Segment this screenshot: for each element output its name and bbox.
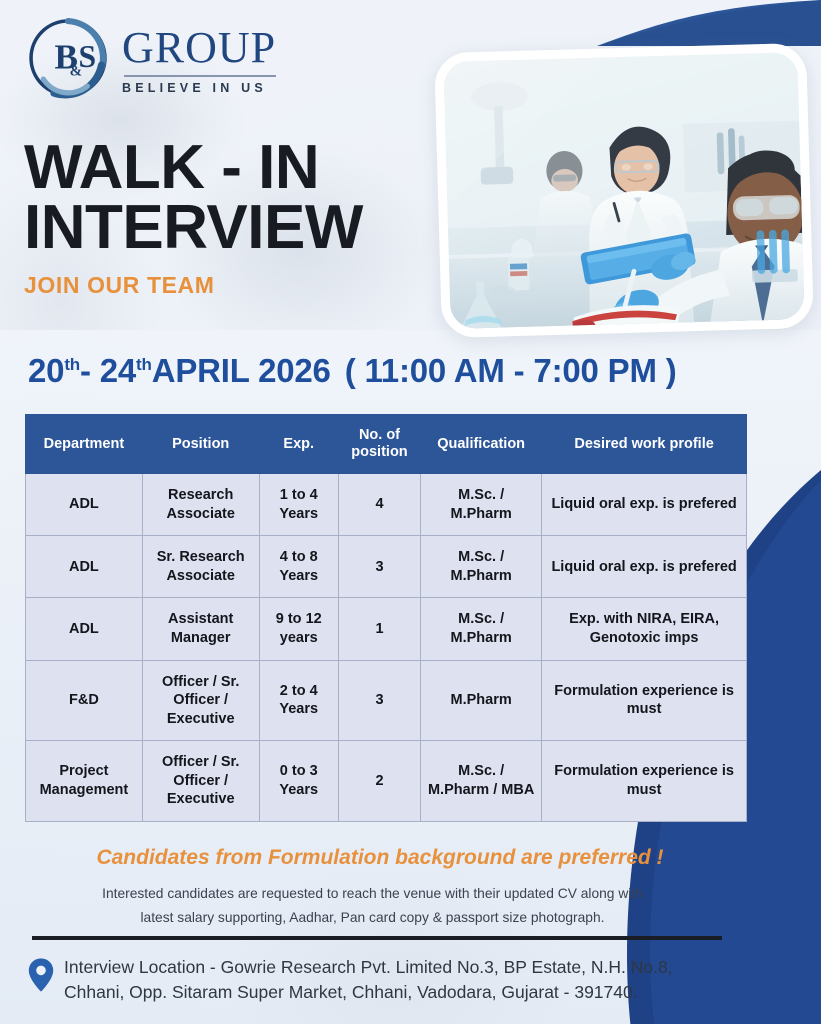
cell-qualification: M.Pharm <box>421 660 542 741</box>
map-pin-icon <box>28 958 54 992</box>
cell-openings: 3 <box>338 660 420 741</box>
column-header-qualification: Qualification <box>421 415 542 474</box>
headline-line-1: WALK - IN <box>24 133 319 202</box>
column-header-department: Department <box>26 415 143 474</box>
column-header-position: Position <box>142 415 259 474</box>
footer-divider <box>32 936 722 940</box>
cell-work-profile: Formulation experience is must <box>542 660 747 741</box>
interview-date-time: 20th- 24thAPRIL 2026( 11:00 AM - 7:00 PM… <box>28 352 677 390</box>
cell-openings: 4 <box>338 474 420 536</box>
cell-department: ADL <box>26 536 143 598</box>
poster-root: B S & GROUP BELIEVE IN US WALK - IN INTE… <box>0 0 821 1024</box>
cell-experience: 0 to 3 Years <box>259 741 338 822</box>
instructions-line-1: Interested candidates are requested to r… <box>0 882 745 906</box>
cell-qualification: M.Sc. / M.Pharm <box>421 474 542 536</box>
table-row: F&D Officer / Sr. Officer / Executive 2 … <box>26 660 747 741</box>
cell-work-profile: Exp. with NIRA, EIRA, Genotoxic imps <box>542 598 747 660</box>
cell-position: Assistant Manager <box>142 598 259 660</box>
cell-qualification: M.Sc. / M.Pharm <box>421 598 542 660</box>
location-line-1: Interview Location - Gowrie Research Pvt… <box>64 955 673 980</box>
navy-wedge-decoration <box>541 0 821 46</box>
cell-work-profile: Liquid oral exp. is prefered <box>542 536 747 598</box>
cell-experience: 1 to 4 Years <box>259 474 338 536</box>
cell-department: ADL <box>26 474 143 536</box>
interview-location: Interview Location - Gowrie Research Pvt… <box>28 955 788 1006</box>
hero-headline: WALK - IN INTERVIEW JOIN OUR TEAM <box>24 138 454 299</box>
table-row: ADL Sr. Research Associate 4 to 8 Years … <box>26 536 747 598</box>
date-start-suffix: th <box>64 355 80 374</box>
cell-position: Sr. Research Associate <box>142 536 259 598</box>
column-header-openings: No. of position <box>338 415 420 474</box>
date-month-year: APRIL 2026 <box>152 352 331 389</box>
bs-monogram-icon: B S & <box>24 14 112 102</box>
hero-subtitle: JOIN OUR TEAM <box>24 272 454 299</box>
table-row: ADL Research Associate 1 to 4 Years 4 M.… <box>26 474 747 536</box>
brand-tagline: BELIEVE IN US <box>122 81 276 95</box>
cell-experience: 2 to 4 Years <box>259 660 338 741</box>
vacancies-table: Department Position Exp. No. of position… <box>25 414 747 822</box>
headline-line-2: INTERVIEW <box>24 193 363 262</box>
brand-name: GROUP <box>122 26 276 70</box>
date-end-suffix: th <box>136 355 152 374</box>
cell-position: Officer / Sr. Officer / Executive <box>142 660 259 741</box>
table-row: ADL Assistant Manager 9 to 12 years 1 M.… <box>26 598 747 660</box>
cell-qualification: M.Sc. / M.Pharm / MBA <box>421 741 542 822</box>
cell-department: Project Management <box>26 741 143 822</box>
brand-rule <box>124 75 276 77</box>
column-header-work-profile: Desired work profile <box>542 415 747 474</box>
vacancies-table-wrapper: Department Position Exp. No. of position… <box>25 414 747 822</box>
cell-work-profile: Formulation experience is must <box>542 741 747 822</box>
column-header-experience: Exp. <box>259 415 338 474</box>
cell-qualification: M.Sc. / M.Pharm <box>421 536 542 598</box>
cell-openings: 1 <box>338 598 420 660</box>
date-dash: - <box>80 352 91 389</box>
brand-logo: B S & GROUP BELIEVE IN US <box>24 14 276 102</box>
cell-work-profile: Liquid oral exp. is prefered <box>542 474 747 536</box>
table-row: Project Management Officer / Sr. Officer… <box>26 741 747 822</box>
instructions-line-2: latest salary supporting, Aadhar, Pan ca… <box>0 906 745 930</box>
date-start-day: 20 <box>28 352 64 389</box>
table-header-row: Department Position Exp. No. of position… <box>26 415 747 474</box>
location-line-2: Chhani, Opp. Sitaram Super Market, Chhan… <box>64 980 673 1005</box>
cell-position: Officer / Sr. Officer / Executive <box>142 741 259 822</box>
cell-experience: 9 to 12 years <box>259 598 338 660</box>
date-end-day: 24 <box>100 352 136 389</box>
instructions-note: Interested candidates are requested to r… <box>0 882 745 930</box>
laboratory-photo <box>443 52 804 333</box>
cell-department: F&D <box>26 660 143 741</box>
cell-department: ADL <box>26 598 143 660</box>
cell-position: Research Associate <box>142 474 259 536</box>
svg-text:&: & <box>70 64 82 80</box>
cell-experience: 4 to 8 Years <box>259 536 338 598</box>
cell-openings: 2 <box>338 741 420 822</box>
interview-time-range: ( 11:00 AM - 7:00 PM ) <box>345 352 677 389</box>
preference-note: Candidates from Formulation background a… <box>0 846 760 870</box>
cell-openings: 3 <box>338 536 420 598</box>
laboratory-photo-card <box>434 43 814 338</box>
